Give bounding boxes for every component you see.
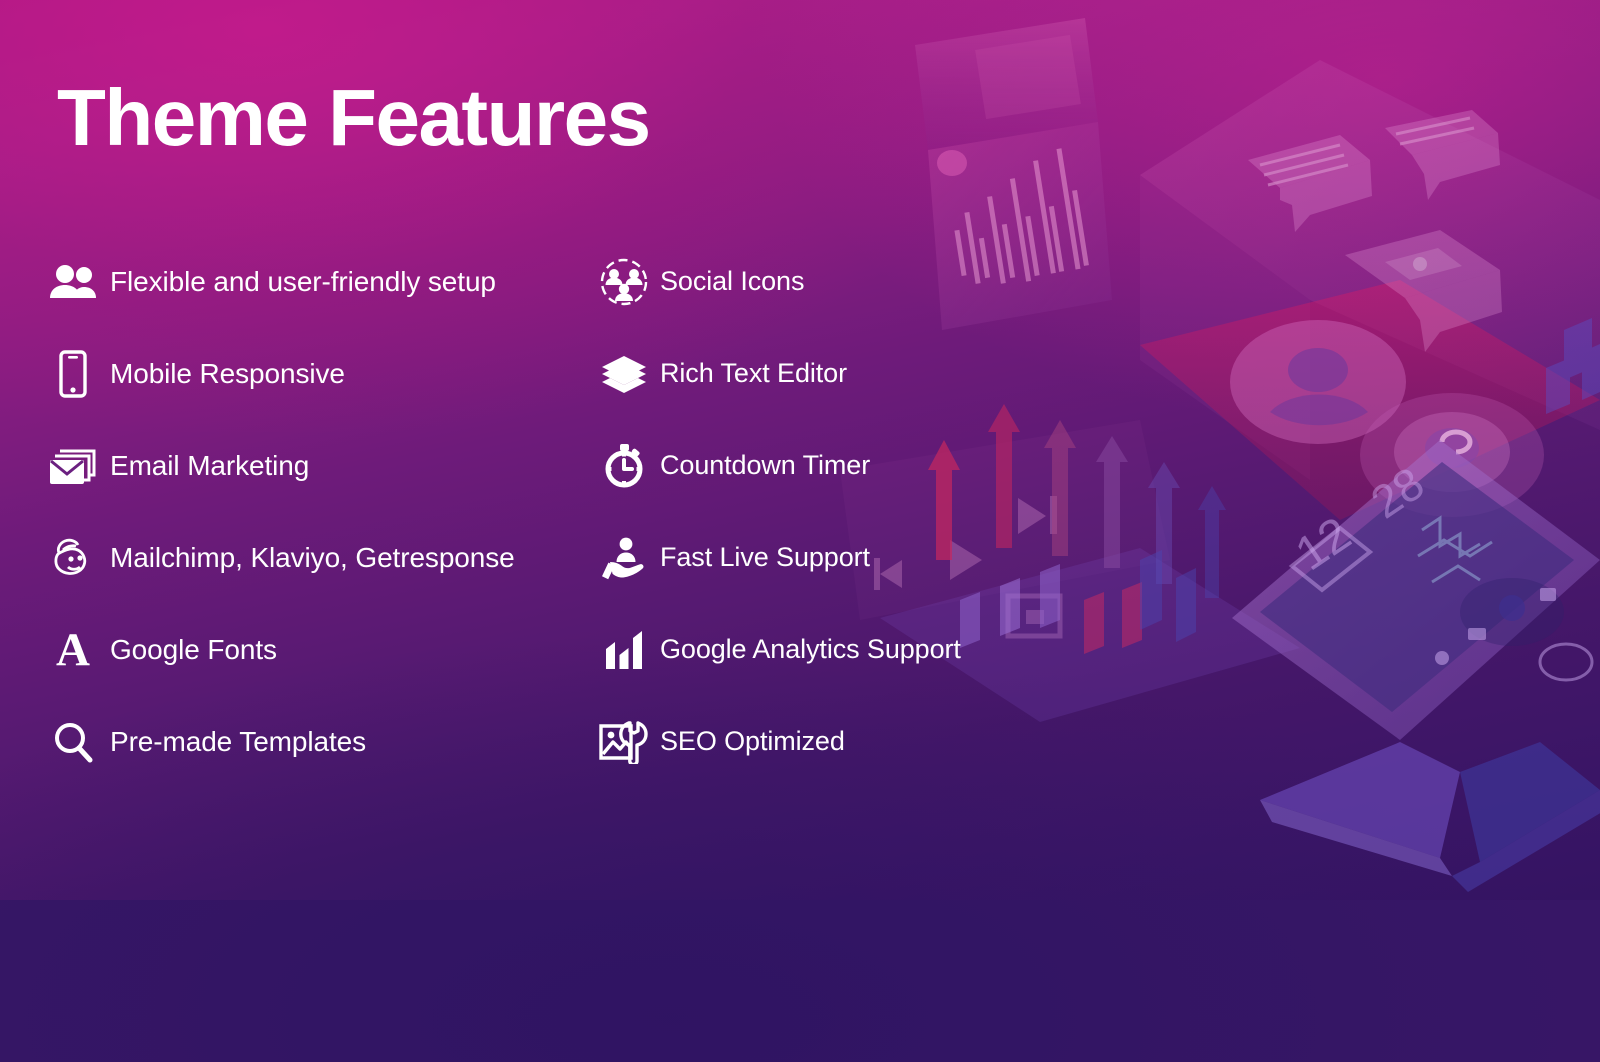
feature-label: Mailchimp, Klaviyo, Getresponse bbox=[110, 543, 515, 574]
feature-item-email-marketing[interactable]: Email Marketing bbox=[47, 420, 587, 512]
feature-item-google-analytics[interactable]: Google Analytics Support bbox=[598, 604, 1068, 696]
feature-item-fast-live-support[interactable]: Fast Live Support bbox=[598, 512, 1068, 604]
feature-label: Flexible and user-friendly setup bbox=[110, 267, 496, 298]
feature-item-social-icons[interactable]: Social Icons bbox=[598, 236, 1068, 328]
feature-label: Mobile Responsive bbox=[110, 359, 345, 390]
feature-label: Rich Text Editor bbox=[660, 359, 847, 389]
feature-label: Pre-made Templates bbox=[110, 727, 366, 758]
feature-label: Email Marketing bbox=[110, 451, 309, 482]
hand-support-icon bbox=[598, 533, 650, 583]
feature-label: Social Icons bbox=[660, 267, 804, 297]
seo-image-tool-icon bbox=[598, 717, 650, 767]
page-title: Theme Features bbox=[57, 78, 650, 158]
layers-icon bbox=[598, 349, 650, 399]
feature-label: Countdown Timer bbox=[660, 451, 870, 481]
smartphone-icon bbox=[47, 349, 99, 399]
users-icon bbox=[47, 257, 99, 307]
feature-label: SEO Optimized bbox=[660, 727, 845, 757]
feature-item-email-platforms[interactable]: Mailchimp, Klaviyo, Getresponse bbox=[47, 512, 587, 604]
magnifier-icon bbox=[47, 717, 99, 767]
slide-content: Theme Features Flexible and user-friendl… bbox=[0, 0, 1600, 900]
feature-list-right: Social Icons Rich Text Editor bbox=[598, 236, 1068, 788]
envelopes-icon bbox=[47, 441, 99, 491]
group-circle-icon bbox=[598, 257, 650, 307]
bar-chart-icon bbox=[598, 625, 650, 675]
feature-list-left: Flexible and user-friendly setup Mobile … bbox=[47, 236, 587, 788]
feature-item-premade-templates[interactable]: Pre-made Templates bbox=[47, 696, 587, 788]
feature-item-rich-text-editor[interactable]: Rich Text Editor bbox=[598, 328, 1068, 420]
feature-item-countdown-timer[interactable]: Countdown Timer bbox=[598, 420, 1068, 512]
feature-item-flexible-setup[interactable]: Flexible and user-friendly setup bbox=[47, 236, 587, 328]
mailchimp-icon bbox=[47, 533, 99, 583]
feature-item-google-fonts[interactable]: A Google Fonts bbox=[47, 604, 587, 696]
feature-label: Google Fonts bbox=[110, 635, 277, 666]
feature-item-mobile-responsive[interactable]: Mobile Responsive bbox=[47, 328, 587, 420]
feature-label: Google Analytics Support bbox=[660, 635, 961, 665]
feature-label: Fast Live Support bbox=[660, 543, 870, 573]
letter-a-icon: A bbox=[47, 625, 99, 675]
stopwatch-icon bbox=[598, 441, 650, 491]
feature-item-seo-optimized[interactable]: SEO Optimized bbox=[598, 696, 1068, 788]
